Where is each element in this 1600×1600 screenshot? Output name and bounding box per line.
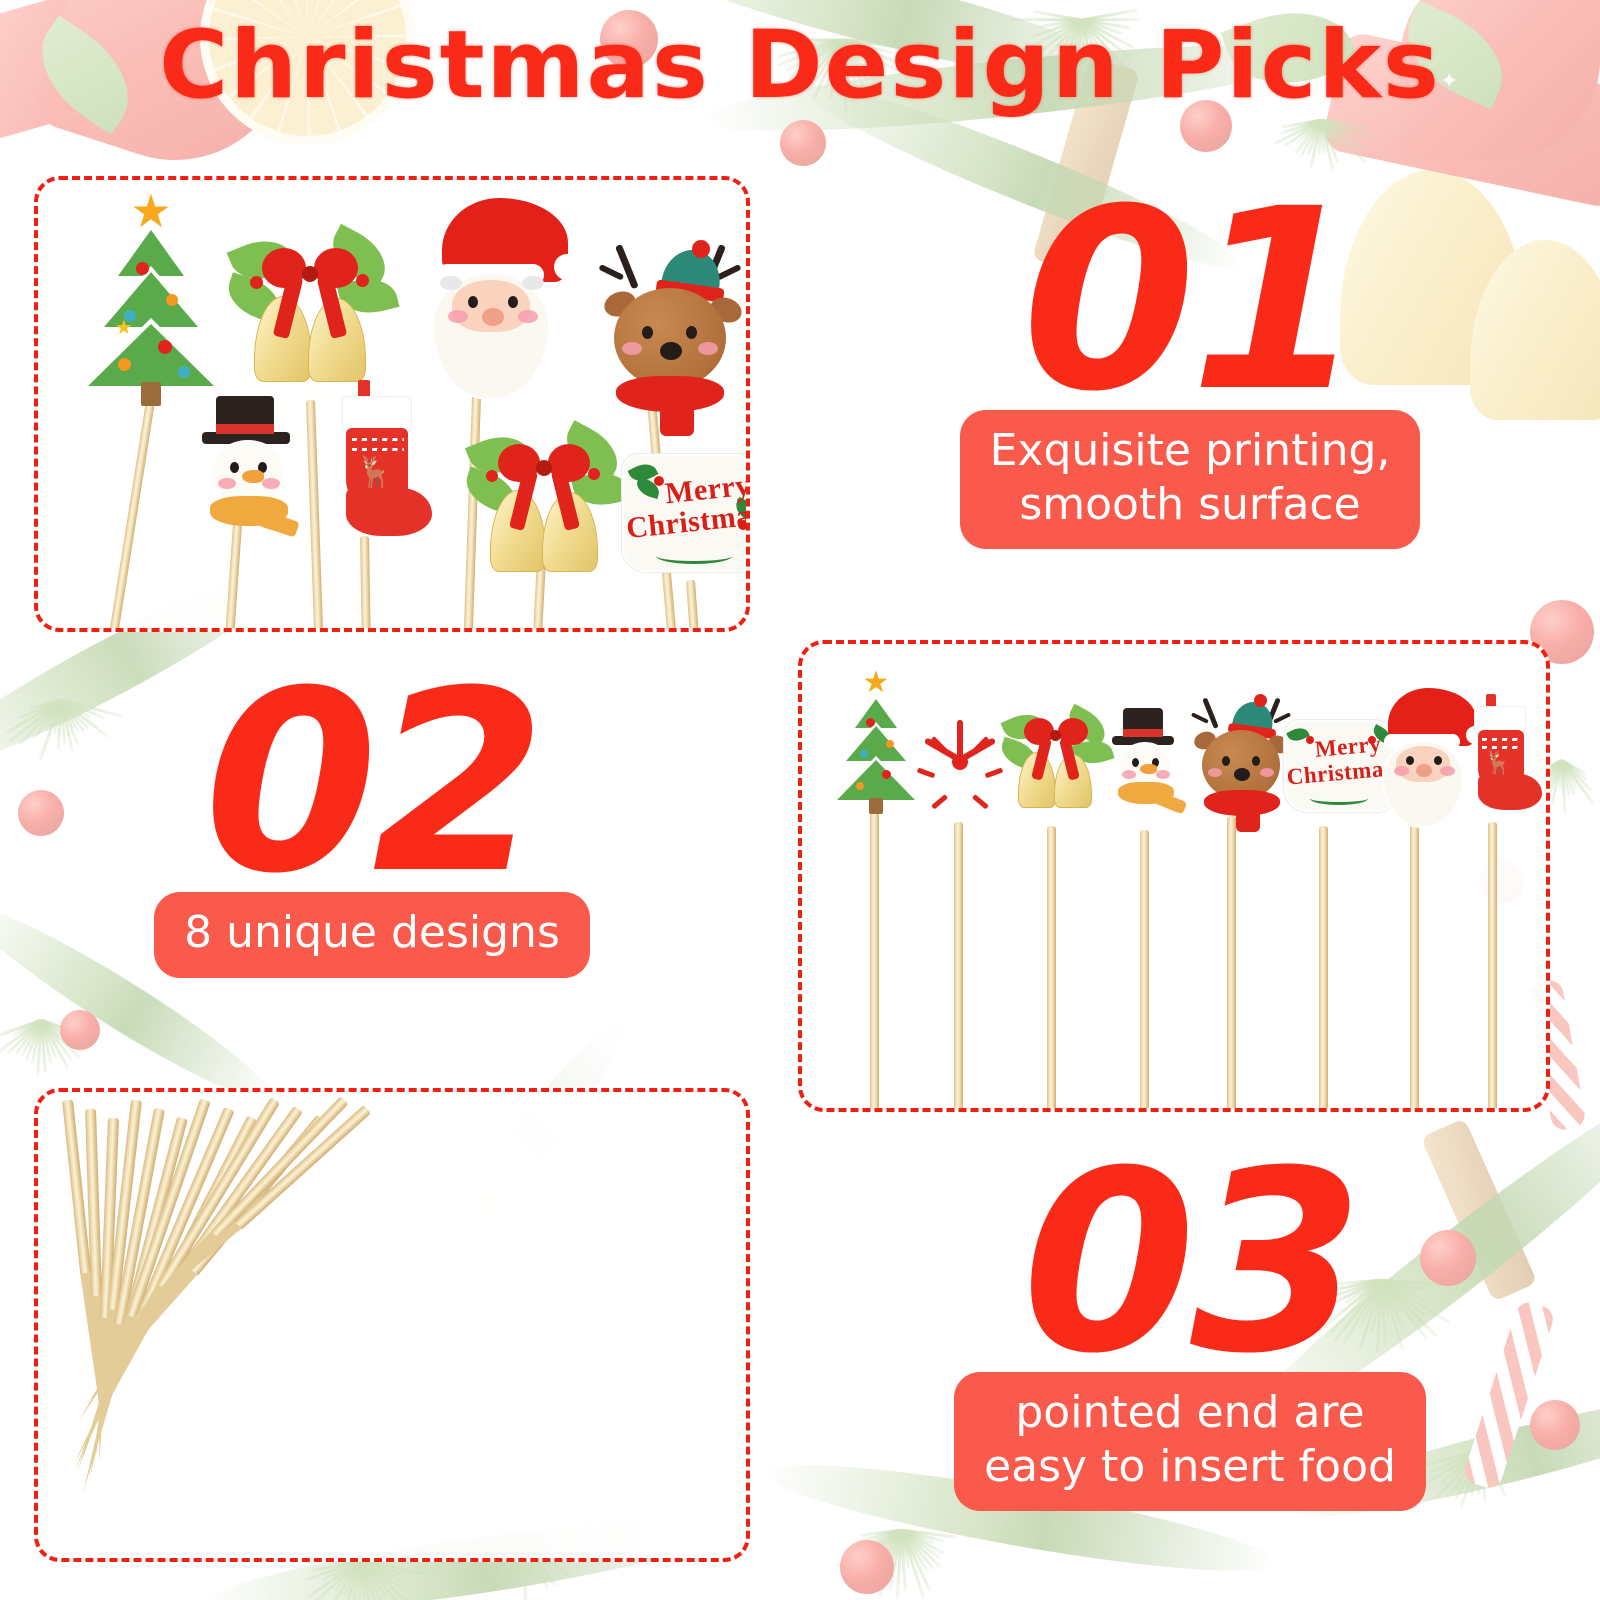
feature-number: 02 bbox=[62, 668, 682, 898]
feature-badge-text: 8 unique designs bbox=[154, 892, 590, 978]
pick-head-snowman bbox=[1104, 708, 1192, 834]
pick-head-gold-bells bbox=[466, 416, 626, 596]
pick-stick bbox=[108, 375, 159, 632]
pick-head-stocking: 🦌 bbox=[1462, 694, 1550, 824]
pick-head-santa-face bbox=[418, 198, 578, 408]
page-title: Christmas Design Picks bbox=[0, 14, 1600, 117]
pick-head-snowflake bbox=[914, 712, 1006, 812]
pick-head-christmas-tree: ★ bbox=[824, 672, 928, 808]
pick-stick bbox=[1488, 822, 1497, 1112]
pick-stick bbox=[870, 804, 879, 1112]
feature-block-02: 02 8 unique designs bbox=[62, 668, 682, 978]
pick-stick bbox=[1319, 826, 1328, 1112]
pick-stick bbox=[1227, 816, 1236, 1112]
pick-head-gold-bells bbox=[1002, 700, 1110, 824]
pick-stick bbox=[1410, 820, 1419, 1112]
panel-toothpicks bbox=[34, 1088, 750, 1562]
feature-badge-text: Exquisite printing, smooth surface bbox=[960, 410, 1421, 549]
pick-head-christmas-tree: ★ ★ bbox=[66, 190, 236, 395]
toothpick-fan bbox=[38, 1092, 746, 1558]
pick-stick bbox=[954, 822, 963, 1112]
pick-head-reindeer bbox=[1190, 692, 1296, 828]
feature-number: 01 bbox=[880, 186, 1500, 416]
pick-head-merry-christmas-sign: Merry Christmas bbox=[622, 454, 750, 584]
pick-head-reindeer bbox=[594, 236, 750, 436]
tree-ornament-star-icon: ★ bbox=[115, 318, 133, 338]
pick-head-stocking: 🦌 bbox=[324, 380, 444, 555]
pick-stick bbox=[1047, 826, 1056, 1112]
feature-badge-text: pointed end are easy to insert food bbox=[954, 1372, 1426, 1511]
pick-stick bbox=[686, 580, 700, 632]
panel-picks-assorted: ★ ★ bbox=[34, 176, 750, 632]
reindeer-silhouette-icon: 🦌 bbox=[356, 458, 393, 488]
feature-number: 03 bbox=[880, 1148, 1500, 1378]
panel-picks-row: ★ bbox=[798, 640, 1550, 1112]
feature-block-01: 01 Exquisite printing, smooth surface bbox=[880, 186, 1500, 549]
reindeer-silhouette-icon: 🦌 bbox=[1484, 752, 1511, 774]
pick-stick bbox=[1140, 830, 1149, 1112]
pick-head-snowman bbox=[188, 396, 318, 556]
feature-block-03: 03 pointed end are easy to insert food bbox=[880, 1148, 1500, 1511]
